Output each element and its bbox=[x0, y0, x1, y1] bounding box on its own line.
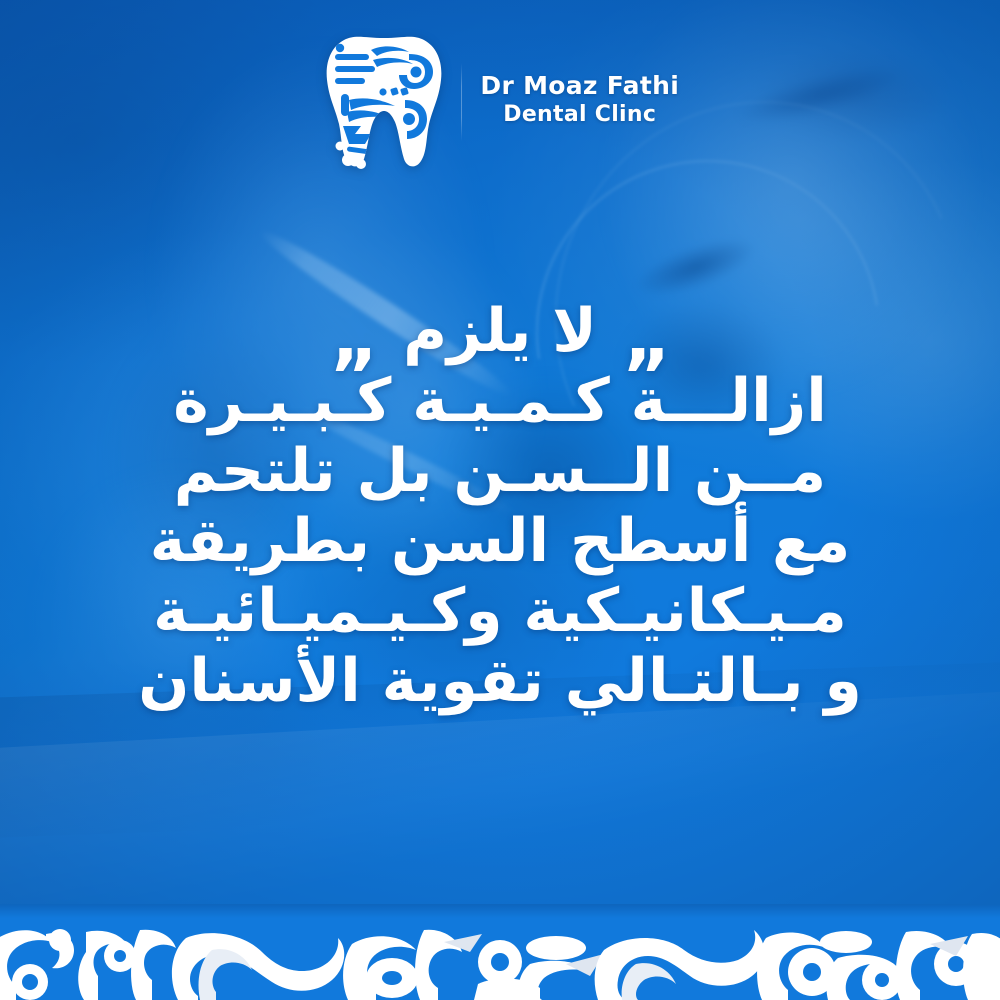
arabic-quote-block: „ لا يلزم „ ازالـــة كـمـيـة كـبـيـرة مـ… bbox=[0, 296, 1000, 716]
arabic-calligraphy-pattern-band bbox=[0, 904, 1000, 1000]
logo-divider bbox=[461, 63, 463, 141]
quote-line-5: مـيـكانيـكية وكـيـميـائيـة bbox=[44, 576, 956, 646]
quote-line-4: مع أسطح السن بطريقة bbox=[44, 506, 956, 576]
clinic-subtitle: Dental Clinc bbox=[503, 102, 656, 129]
brand-header: Dr Moaz Fathi Dental Clinc bbox=[0, 34, 1000, 170]
clinic-doctor-name: Dr Moaz Fathi bbox=[480, 71, 679, 102]
tooth-calligraphy-logo-icon bbox=[321, 34, 447, 170]
close-quote-icon: „ bbox=[623, 315, 670, 359]
quote-line-1: لا يلزم bbox=[403, 296, 597, 366]
quote-line-1-row: „ لا يلزم „ bbox=[44, 296, 956, 366]
quote-line-6: و بـالتـالي تقوية الأسنان bbox=[44, 646, 956, 716]
quote-line-3: مــن الــسـن بل تلتحم bbox=[44, 436, 956, 506]
open-quote-icon: „ bbox=[330, 315, 377, 359]
brand-wordmark: Dr Moaz Fathi Dental Clinc bbox=[480, 71, 679, 132]
poster-canvas: Dr Moaz Fathi Dental Clinc „ لا يلزم „ ا… bbox=[0, 0, 1000, 1000]
quote-line-2: ازالـــة كـمـيـة كـبـيـرة bbox=[44, 366, 956, 436]
